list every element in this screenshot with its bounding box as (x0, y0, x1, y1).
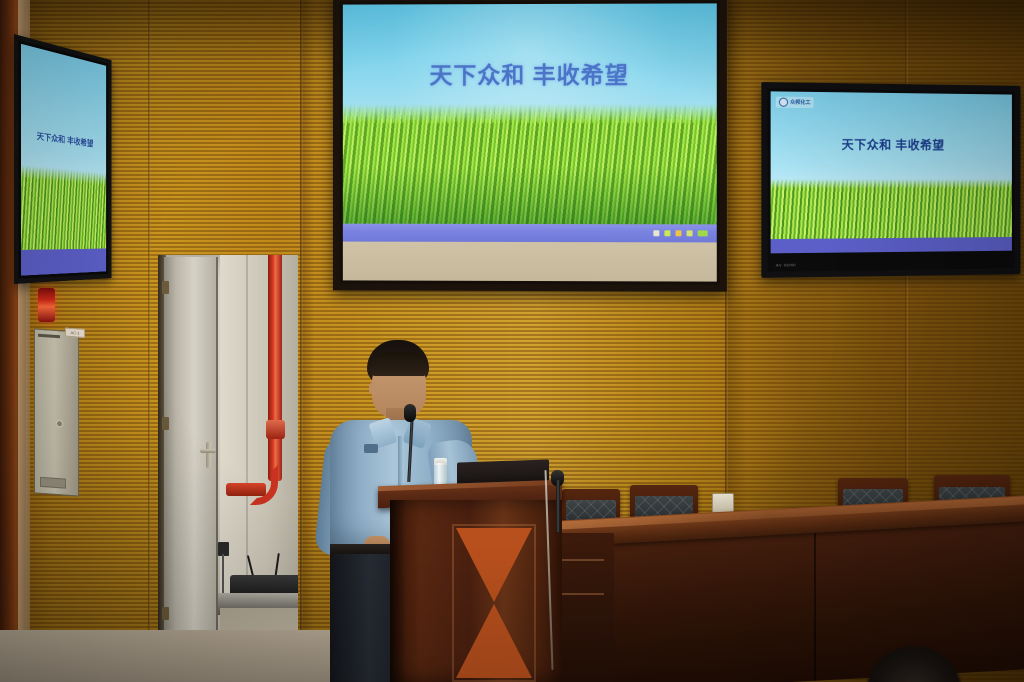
panel-tag-label: AC-1 (65, 328, 85, 338)
electrical-panel[interactable]: AC-1 (34, 328, 79, 496)
lectern-inlay (456, 528, 532, 678)
panel-lock-knob[interactable] (57, 421, 62, 426)
projection-blank-area (343, 242, 717, 282)
right-display-screen: 众邦化工 天下众和 丰收希望 (771, 91, 1012, 253)
slide-rice-field-image (343, 104, 717, 243)
door-handle-lever[interactable] (200, 449, 216, 453)
door-hinge (162, 281, 169, 294)
lectern-inlay-triangle-top (456, 528, 532, 602)
table-seam (814, 519, 816, 681)
logo-mark-icon (779, 98, 788, 107)
right-display-title: 天下众和 丰收希望 (771, 135, 1012, 153)
wall-socket[interactable] (712, 493, 734, 513)
lectern-shadow-edge (390, 500, 406, 682)
lectern-inlay-triangle-bottom (456, 604, 532, 678)
door-hinge (162, 607, 169, 620)
projection-surface: 天下众和 丰收希望 (343, 3, 717, 281)
projection-screen[interactable]: 天下众和 丰收希望 (333, 0, 727, 292)
door-hinge (162, 417, 169, 430)
wall-seam (300, 0, 303, 682)
table-side-cabinet[interactable] (556, 533, 614, 682)
drawer-line (560, 559, 604, 561)
wall-seam (148, 0, 151, 682)
tray-icon-5[interactable] (698, 231, 708, 237)
door-leaf[interactable] (164, 257, 218, 652)
room-floor (0, 630, 340, 682)
left-wall-display[interactable]: 天下众和 丰收希望 (14, 34, 112, 284)
pipe-horizontal-run (226, 483, 266, 496)
panel-vent (40, 477, 66, 489)
drawer-line (560, 593, 604, 595)
tray-icon-1[interactable] (653, 231, 659, 237)
left-display-slide (21, 44, 106, 276)
company-logo: 众邦化工 (776, 97, 814, 109)
microphone-icon[interactable] (404, 404, 416, 422)
presenter-ear (369, 382, 378, 395)
open-doorway[interactable] (158, 255, 298, 660)
lectern[interactable] (390, 500, 562, 682)
presenter-shirt-logo (364, 444, 378, 453)
fire-sprinkler-pipe (268, 255, 282, 481)
panel-slot (38, 334, 60, 339)
conference-room-scene: 天下众和 丰收希望 AC-1 天下众和 丰收希望 (0, 0, 1024, 682)
slide-title: 天下众和 丰收希望 (343, 56, 717, 91)
tv-input-label: AV HDMI (776, 262, 796, 267)
door-handle[interactable] (206, 442, 211, 468)
right-display-slide (771, 91, 1012, 253)
projected-slide: 天下众和 丰收希望 (343, 3, 717, 242)
logo-text: 众邦化工 (790, 99, 810, 106)
pipe-fitting (266, 420, 285, 439)
right-wall-display[interactable]: 众邦化工 天下众和 丰收希望 AV HDMI (761, 82, 1020, 278)
left-display-taskbar (21, 249, 106, 276)
presenter-hair-front (370, 352, 428, 376)
desktop-taskbar[interactable] (343, 224, 717, 243)
left-display-field-image (21, 164, 106, 250)
right-display-taskbar (771, 237, 1012, 254)
right-display-field-image (771, 179, 1012, 239)
left-display-screen: 天下众和 丰收希望 (21, 44, 106, 276)
fire-alarm-strobe-icon (38, 288, 55, 322)
tray-icon-2[interactable] (664, 231, 670, 237)
tray-icon-4[interactable] (687, 231, 693, 237)
tray-icon-3[interactable] (675, 231, 681, 237)
table-microphone-stem (556, 480, 560, 532)
